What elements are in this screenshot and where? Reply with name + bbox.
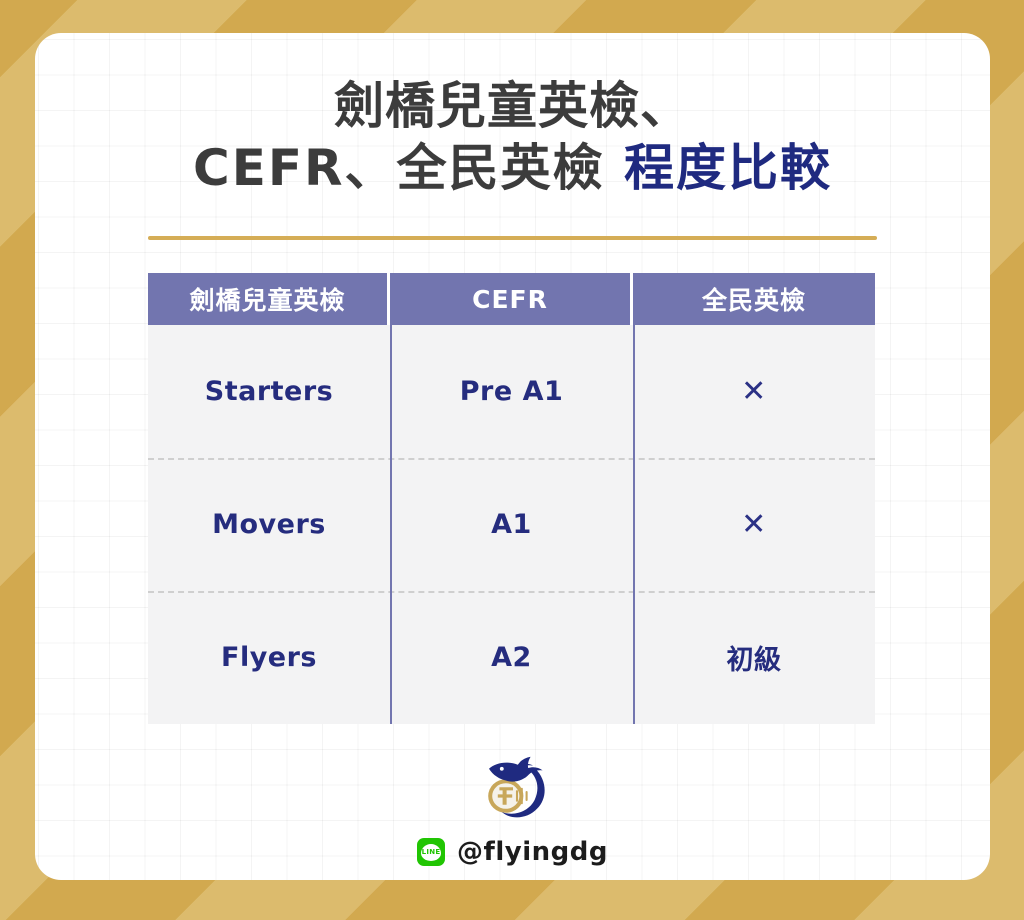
title-line-2-main: CEFR、全民英檢 bbox=[193, 139, 624, 197]
poster-canvas: 劍橋兒童英檢、 CEFR、全民英檢 程度比較 劍橋兒童英檢 CEFR 全民英檢 … bbox=[0, 0, 1024, 920]
cell-cambridge: Flyers bbox=[148, 591, 390, 724]
title-line-1: 劍橋兒童英檢、 bbox=[35, 75, 990, 137]
title-divider-rule bbox=[148, 236, 877, 240]
title-line-2: CEFR、全民英檢 程度比較 bbox=[35, 137, 990, 199]
line-bubble-label: LINE bbox=[421, 844, 441, 861]
cell-cefr: A2 bbox=[390, 591, 633, 724]
cell-cambridge: Movers bbox=[148, 458, 390, 591]
column-header-cefr: CEFR bbox=[390, 273, 633, 325]
column-divider-1 bbox=[390, 325, 392, 724]
page-title: 劍橋兒童英檢、 CEFR、全民英檢 程度比較 bbox=[35, 75, 990, 199]
cross-icon: ✕ bbox=[741, 507, 767, 542]
cell-gept: ✕ bbox=[633, 325, 875, 458]
table-row: Movers A1 ✕ bbox=[148, 458, 875, 591]
cross-icon: ✕ bbox=[741, 374, 767, 409]
cell-gept: 初級 bbox=[633, 591, 875, 724]
cell-cambridge: Starters bbox=[148, 325, 390, 458]
comparison-table: 劍橋兒童英檢 CEFR 全民英檢 Starters Pre A1 ✕ Mover… bbox=[148, 273, 875, 724]
column-header-cambridge: 劍橋兒童英檢 bbox=[148, 273, 390, 325]
column-header-gept: 全民英檢 bbox=[633, 273, 875, 325]
table-body: Starters Pre A1 ✕ Movers A1 ✕ Flyers A2 bbox=[148, 325, 875, 724]
social-handle-row[interactable]: LINE @flyingdg bbox=[35, 837, 990, 867]
cell-cefr: A1 bbox=[390, 458, 633, 591]
content-card: 劍橋兒童英檢、 CEFR、全民英檢 程度比較 劍橋兒童英檢 CEFR 全民英檢 … bbox=[35, 33, 990, 880]
handle-text: @flyingdg bbox=[457, 837, 608, 867]
table-row: Starters Pre A1 ✕ bbox=[148, 325, 875, 458]
title-line-2-accent: 程度比較 bbox=[624, 139, 832, 197]
footer: LINE @flyingdg bbox=[35, 748, 990, 867]
line-icon[interactable]: LINE bbox=[417, 838, 445, 866]
dragon-microphone-logo bbox=[473, 748, 553, 828]
cell-cefr: Pre A1 bbox=[390, 325, 633, 458]
cell-gept: ✕ bbox=[633, 458, 875, 591]
table-row: Flyers A2 初級 bbox=[148, 591, 875, 724]
column-divider-2 bbox=[633, 325, 635, 724]
table-header-row: 劍橋兒童英檢 CEFR 全民英檢 bbox=[148, 273, 875, 325]
